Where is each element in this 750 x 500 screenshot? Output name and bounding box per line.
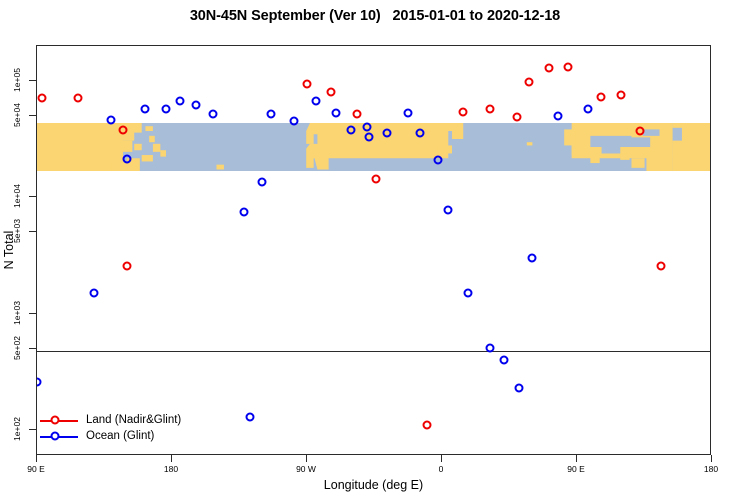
- y-tick: [29, 115, 36, 116]
- y-tick-label: 1e+03: [12, 301, 22, 325]
- y-tick-label: 1e+02: [12, 417, 22, 441]
- y-tick: [29, 348, 36, 349]
- data-point-land: [513, 113, 522, 122]
- data-point-land: [372, 174, 381, 183]
- x-tick-label: 0: [439, 464, 444, 474]
- data-point-ocean: [312, 96, 321, 105]
- data-point-ocean: [267, 110, 276, 119]
- y-tick-label: 1e+05: [12, 68, 22, 92]
- data-point-ocean: [486, 343, 495, 352]
- y-tick: [29, 429, 36, 430]
- data-point-land: [303, 79, 312, 88]
- legend-label-ocean: Ocean (Glint): [86, 428, 154, 444]
- data-point-land: [73, 93, 82, 102]
- y-axis-title: N Total: [2, 231, 16, 270]
- data-point-land: [525, 78, 534, 87]
- y-tick: [29, 231, 36, 232]
- data-point-ocean: [553, 112, 562, 121]
- data-point-ocean: [175, 96, 184, 105]
- data-point-ocean: [289, 117, 298, 126]
- y-tick: [29, 80, 36, 81]
- y-tick-label: 1e+04: [12, 184, 22, 208]
- data-point-land: [486, 105, 495, 114]
- data-point-ocean: [583, 104, 592, 113]
- legend-label-land: Land (Nadir&Glint): [86, 412, 181, 428]
- x-tick: [306, 455, 307, 462]
- data-point-ocean: [444, 205, 453, 214]
- data-point-ocean: [403, 109, 412, 118]
- data-point-ocean: [208, 110, 217, 119]
- data-point-ocean: [363, 123, 372, 132]
- x-axis-title: Longitude (deg E): [36, 478, 711, 492]
- data-point-land: [37, 93, 46, 102]
- data-point-ocean: [514, 384, 523, 393]
- chart-title: 30N-45N September (Ver 10) 2015-01-01 to…: [0, 8, 750, 24]
- plot-area: [37, 46, 710, 454]
- data-point-land: [459, 108, 468, 117]
- x-tick: [576, 455, 577, 462]
- data-point-land: [327, 87, 336, 96]
- x-tick: [171, 455, 172, 462]
- data-point-ocean: [346, 125, 355, 134]
- legend-item-ocean[interactable]: Ocean (Glint): [40, 428, 181, 444]
- y-tick: [29, 313, 36, 314]
- data-point-ocean: [106, 116, 115, 125]
- legend: Land (Nadir&Glint) Ocean (Glint): [40, 412, 181, 444]
- data-point-ocean: [192, 101, 201, 110]
- y-tick-label: 5e+02: [12, 336, 22, 360]
- legend-marker-ocean-icon: [51, 432, 60, 441]
- data-point-ocean: [433, 155, 442, 164]
- data-point-ocean: [331, 109, 340, 118]
- data-point-ocean: [258, 178, 267, 187]
- data-point-ocean: [499, 356, 508, 365]
- x-tick-label: 90 W: [296, 464, 316, 474]
- data-point-land: [118, 125, 127, 134]
- data-point-land: [544, 63, 553, 72]
- data-point-ocean: [415, 128, 424, 137]
- data-point-land: [616, 90, 625, 99]
- legend-item-land[interactable]: Land (Nadir&Glint): [40, 412, 181, 428]
- data-point-ocean: [364, 133, 373, 142]
- x-tick: [36, 455, 37, 462]
- data-point-ocean: [162, 104, 171, 113]
- y-tick: [29, 196, 36, 197]
- data-point-ocean: [37, 377, 42, 386]
- x-tick-label: 90 E: [567, 464, 585, 474]
- data-point-ocean: [123, 154, 132, 163]
- legend-marker-land-icon: [51, 416, 60, 425]
- data-point-land: [636, 127, 645, 136]
- x-tick-label: 180: [164, 464, 178, 474]
- x-tick: [441, 455, 442, 462]
- data-point-land: [564, 63, 573, 72]
- data-point-ocean: [382, 128, 391, 137]
- data-point-ocean: [90, 289, 99, 298]
- x-tick-label: 180: [704, 464, 718, 474]
- world-map-mask: [37, 123, 710, 171]
- data-point-land: [123, 261, 132, 270]
- reference-line: [37, 351, 710, 352]
- latitude-band-map: [37, 123, 710, 171]
- data-point-ocean: [240, 207, 249, 216]
- data-point-land: [423, 421, 432, 430]
- data-point-ocean: [463, 289, 472, 298]
- data-point-ocean: [528, 254, 537, 263]
- data-point-land: [657, 261, 666, 270]
- data-point-ocean: [246, 412, 255, 421]
- plot-frame: [36, 45, 711, 455]
- data-point-land: [597, 92, 606, 101]
- data-point-ocean: [141, 105, 150, 114]
- y-tick-label: 5e+04: [12, 103, 22, 127]
- chart-root: 30N-45N September (Ver 10) 2015-01-01 to…: [0, 0, 750, 500]
- x-tick: [711, 455, 712, 462]
- data-point-land: [352, 110, 361, 119]
- x-tick-label: 90 E: [27, 464, 45, 474]
